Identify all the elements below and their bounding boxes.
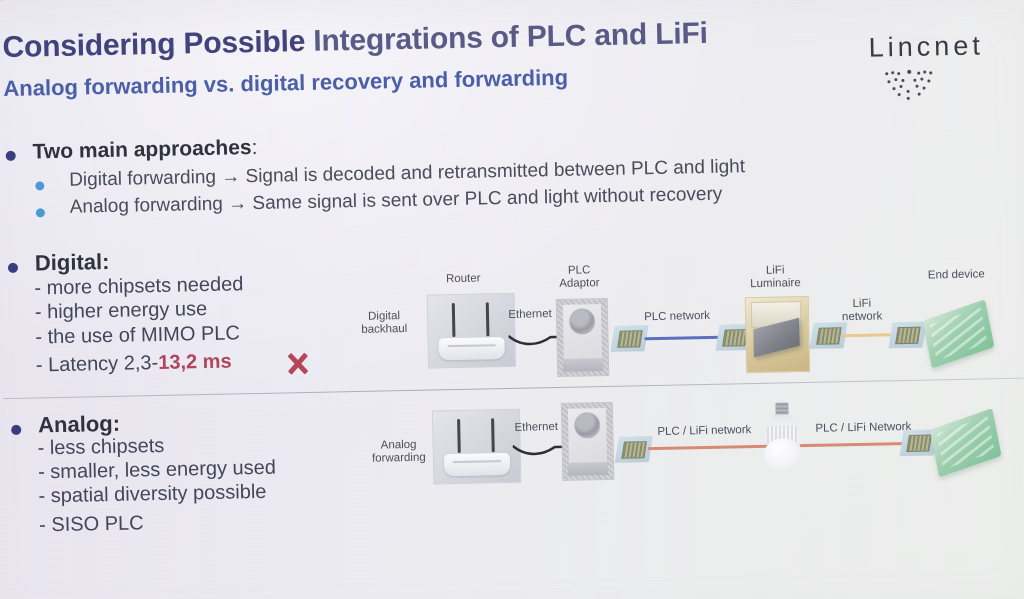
analog-point: - SISO PLC — [39, 512, 144, 537]
digital-latency: - Latency 2,3-13,2 ms — [36, 351, 232, 378]
bullet-two-approaches: Two main approaches: — [32, 136, 257, 165]
digital-point: - higher energy use — [35, 298, 208, 324]
ethernet-label: Ethernet — [505, 421, 567, 435]
projected-slide: Considering Possible Integrations of PLC… — [0, 0, 1024, 599]
slide-content: Considering Possible Integrations of PLC… — [0, 0, 1024, 599]
router-icon — [432, 409, 521, 485]
digital-heading: Digital: — [35, 249, 110, 276]
end-device-icon — [930, 408, 1002, 477]
plc-network-link — [644, 336, 722, 341]
page-title-bold: Considering Possible — [2, 25, 305, 64]
plc-network-label: PLC network — [632, 310, 722, 325]
plc-lifi-network-label-1: PLC / LiFi network — [644, 424, 764, 439]
bullet-dot — [8, 263, 18, 273]
sub-bullet-dot — [36, 208, 45, 217]
x-mark-icon — [283, 348, 314, 379]
lifi-luminaire-label: LiFi Luminaire — [741, 264, 810, 291]
digital-point: - the use of MIMO PLC — [35, 322, 240, 349]
plc-lifi-link-2 — [800, 442, 910, 447]
plc-chip-icon — [610, 325, 648, 352]
analog-heading: Analog: — [38, 411, 120, 439]
plc-adaptor-icon — [556, 298, 610, 377]
ethernet-label: Ethernet — [499, 308, 561, 322]
page-subtitle: Analog forwarding vs. digital recovery a… — [3, 65, 568, 102]
sub-bullet-dot — [35, 181, 44, 190]
slide-photo: Considering Possible Integrations of PLC… — [0, 0, 1024, 599]
analog-point: - less chipsets — [37, 435, 164, 461]
router-icon — [427, 293, 516, 369]
digital-latency-value: 13,2 ms — [158, 351, 232, 374]
lifi-network-link — [842, 333, 894, 337]
lifi-bulb-icon — [762, 402, 803, 469]
lifi-network-label: LiFi network — [834, 297, 891, 324]
lifi-chip-icon — [888, 322, 926, 349]
bullet-two-approaches-bold: Two main approaches — [32, 136, 251, 163]
plc-lifi-link-1 — [648, 445, 771, 450]
bullet-dot — [11, 425, 21, 435]
router-label: Router — [429, 272, 497, 286]
page-title-rest: Integrations of PLC and LiFi — [305, 17, 708, 58]
digital-backhaul-label: Digital backhaul — [348, 310, 421, 337]
section-divider — [4, 378, 1024, 399]
end-device-icon — [923, 299, 995, 368]
analog-point: - smaller, less energy used — [38, 457, 276, 485]
end-device-label: End device — [918, 268, 994, 283]
bullet-dot — [6, 151, 16, 161]
logo-wordmark: Lincnet — [868, 30, 984, 63]
plc-adaptor-label: PLC Adaptor — [548, 264, 611, 291]
digital-point: - more chipsets needed — [34, 273, 243, 300]
page-title: Considering Possible Integrations of PLC… — [2, 17, 708, 65]
analog-point: - spatial diversity possible — [38, 481, 266, 509]
lifi-luminaire-icon — [745, 296, 811, 373]
analog-forwarding-label: Analog forwarding — [360, 438, 437, 466]
digital-latency-prefix: - Latency 2,3- — [36, 352, 159, 376]
bullet-two-approaches-tail: : — [251, 136, 257, 159]
plc-adaptor-icon — [561, 402, 615, 481]
light-rays-icon — [873, 65, 946, 100]
